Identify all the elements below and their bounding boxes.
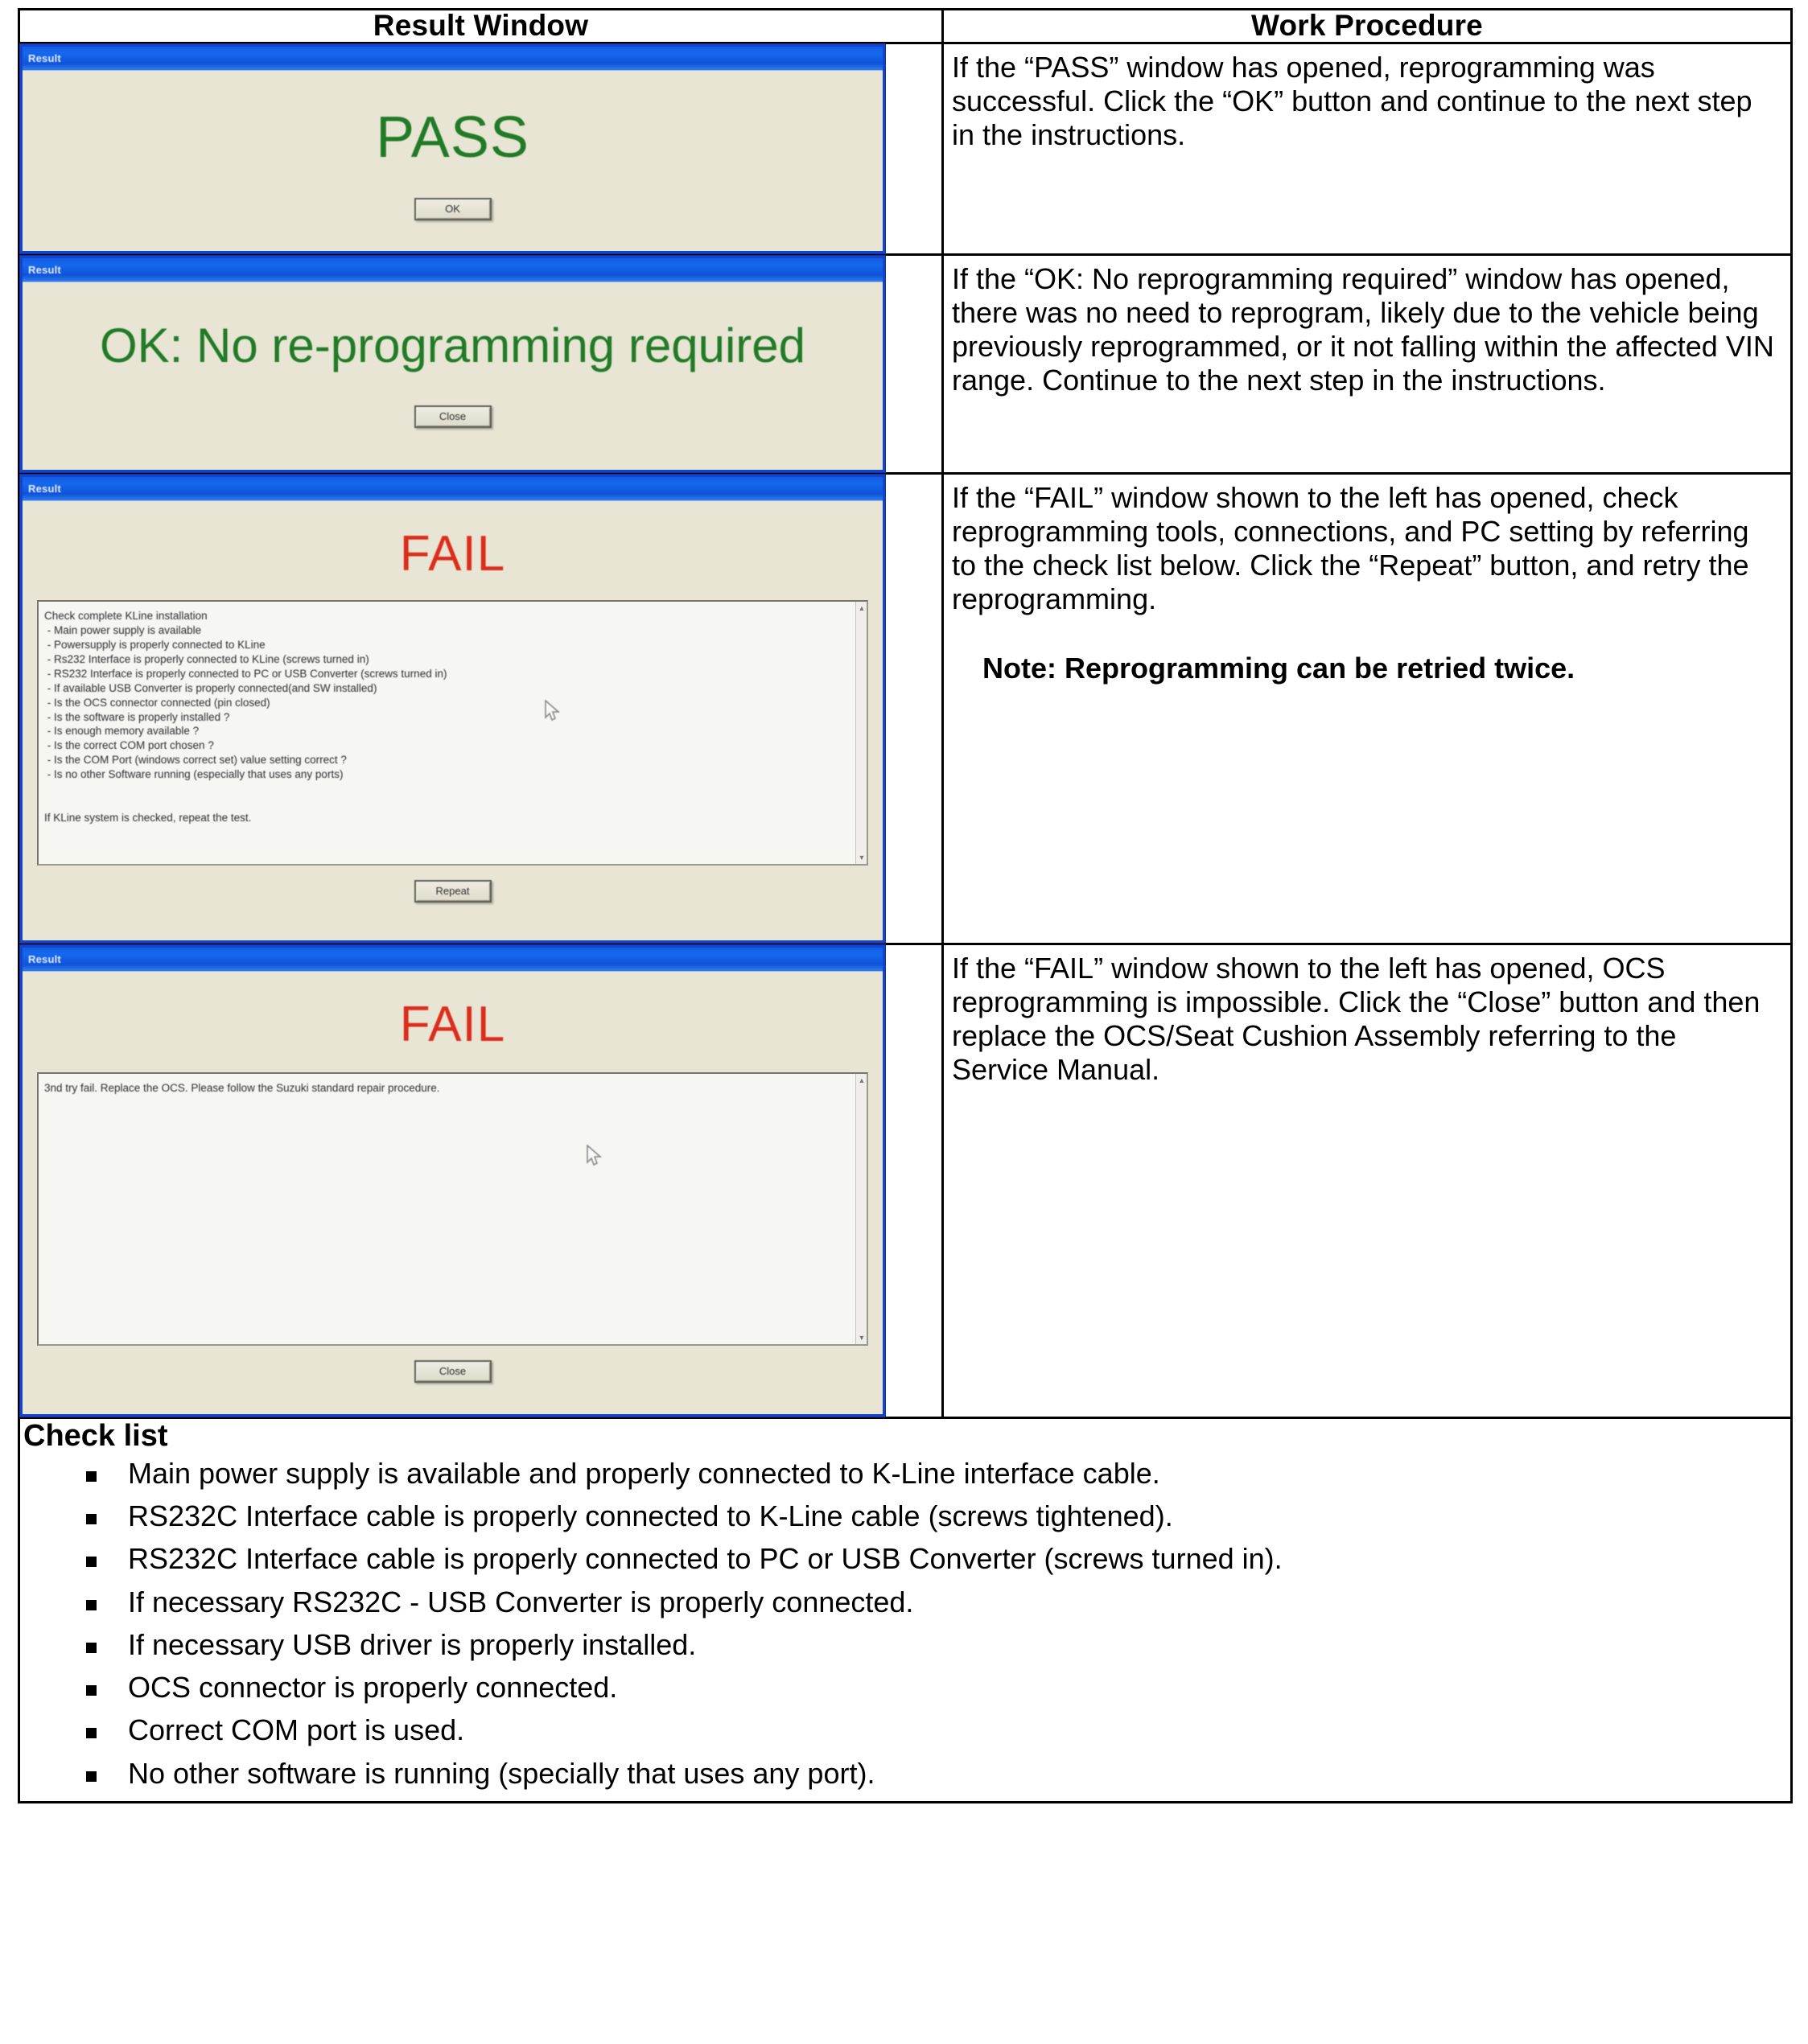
scroll-down-icon[interactable]: ▼ [858, 853, 866, 862]
square-bullet-icon [86, 1685, 97, 1696]
dialog-window-pass[interactable]: Result PASS OK [20, 44, 885, 253]
window-title: Result [28, 953, 61, 965]
list-item-label: If necessary USB driver is properly inst… [128, 1628, 696, 1661]
window-title: Result [28, 264, 61, 276]
result-message-fail: FAIL [23, 972, 883, 1053]
list-item: RS232C Interface cable is properly conne… [86, 1501, 1790, 1531]
dialog-window-fail-repeat[interactable]: Result FAIL Check complete KLine install… [20, 475, 885, 943]
square-bullet-icon [86, 1771, 97, 1782]
column-header-work-procedure: Work Procedure [943, 10, 1792, 43]
checklist-row: Check list Main power supply is availabl… [19, 1417, 1792, 1802]
procedure-note: Note: Reprogramming can be retried twice… [952, 652, 1781, 685]
window-client-area: OK: No re-programming required Close [23, 282, 883, 470]
square-bullet-icon [86, 1471, 97, 1482]
procedure-text-block: If the “FAIL” window shown to the left h… [944, 475, 1790, 695]
result-window-cell-ok: Result OK: No re-programming required Cl… [19, 254, 943, 473]
work-procedure-cell-pass: If the “PASS” window has opened, reprogr… [943, 43, 1792, 254]
work-procedure-cell-ok: If the “OK: No reprogramming required” w… [943, 254, 1792, 473]
close-button[interactable]: Close [414, 405, 492, 428]
result-window-cell-fail-repeat: Result FAIL Check complete KLine install… [19, 473, 943, 944]
window-titlebar[interactable]: Result [23, 948, 883, 972]
square-bullet-icon [86, 1600, 97, 1610]
button-row: Repeat [23, 880, 883, 903]
dialog-window-fail-close[interactable]: Result FAIL 3nd try fail. Replace the OC… [20, 945, 885, 1417]
result-window-cell-pass: Result PASS OK [19, 43, 943, 254]
ok-button[interactable]: OK [414, 198, 492, 220]
table-row: Result OK: No re-programming required Cl… [19, 254, 1792, 473]
list-item-label: OCS connector is properly connected. [128, 1671, 617, 1704]
result-window-procedure-table: Result Window Work Procedure Result PASS… [18, 8, 1793, 1803]
window-client-area: FAIL Check complete KLine installation -… [23, 501, 883, 940]
checklist-title: Check list [23, 1419, 1790, 1454]
window-title: Result [28, 52, 61, 64]
list-item: If necessary RS232C - USB Converter is p… [86, 1587, 1790, 1617]
procedure-text: If the “FAIL” window shown to the left h… [952, 952, 1781, 1087]
button-row: OK [23, 198, 883, 220]
table-header-row: Result Window Work Procedure [19, 10, 1792, 43]
scroll-up-icon[interactable]: ▲ [858, 1076, 866, 1084]
diagnostic-listbox-text: 3nd try fail. Replace the OCS. Please fo… [39, 1074, 867, 1096]
checklist-cell: Check list Main power supply is availabl… [19, 1417, 1792, 1802]
procedure-text-block: If the “FAIL” window shown to the left h… [944, 945, 1790, 1096]
result-window-cell-fail-close: Result FAIL 3nd try fail. Replace the OC… [19, 944, 943, 1417]
list-item-label: Main power supply is available and prope… [128, 1457, 1160, 1490]
table-row: Result FAIL 3nd try fail. Replace the OC… [19, 944, 1792, 1417]
listbox-scrollbar[interactable]: ▲ ▼ [855, 1074, 867, 1344]
table-row: Result PASS OK If the “PASS” window has … [19, 43, 1792, 254]
procedure-text: If the “OK: No reprogramming required” w… [952, 262, 1781, 397]
window-titlebar[interactable]: Result [23, 258, 883, 282]
procedure-text-block: If the “OK: No reprogramming required” w… [944, 256, 1790, 407]
square-bullet-icon [86, 1643, 97, 1653]
window-client-area: FAIL 3nd try fail. Replace the OCS. Plea… [23, 972, 883, 1414]
document-page: Result Window Work Procedure Result PASS… [0, 0, 1808, 2044]
column-header-result-window: Result Window [19, 10, 943, 43]
repeat-button[interactable]: Repeat [414, 880, 492, 903]
list-item: RS232C Interface cable is properly conne… [86, 1544, 1790, 1573]
result-message-pass: PASS [23, 71, 883, 171]
list-item-label: If necessary RS232C - USB Converter is p… [128, 1585, 913, 1618]
window-titlebar[interactable]: Result [23, 477, 883, 501]
list-item-label: RS232C Interface cable is properly conne… [128, 1542, 1283, 1575]
result-message-ok: OK: No re-programming required [23, 282, 883, 373]
procedure-text-block: If the “PASS” window has opened, reprogr… [944, 44, 1790, 162]
scroll-up-icon[interactable]: ▲ [858, 604, 866, 612]
dialog-window-ok[interactable]: Result OK: No re-programming required Cl… [20, 256, 885, 472]
square-bullet-icon [86, 1557, 97, 1567]
work-procedure-cell-fail-close: If the “FAIL” window shown to the left h… [943, 944, 1792, 1417]
procedure-text: If the “PASS” window has opened, reprogr… [952, 51, 1781, 152]
list-item: OCS connector is properly connected. [86, 1672, 1790, 1702]
procedure-text: If the “FAIL” window shown to the left h… [952, 481, 1781, 616]
diagnostic-listbox[interactable]: Check complete KLine installation - Main… [37, 600, 868, 866]
list-item: No other software is running (specially … [86, 1758, 1790, 1788]
list-item: If necessary USB driver is properly inst… [86, 1630, 1790, 1659]
close-button[interactable]: Close [414, 1360, 492, 1383]
square-bullet-icon [86, 1514, 97, 1524]
window-client-area: PASS OK [23, 71, 883, 251]
window-titlebar[interactable]: Result [23, 47, 883, 71]
list-item: Correct COM port is used. [86, 1715, 1790, 1745]
table-row: Result FAIL Check complete KLine install… [19, 473, 1792, 944]
diagnostic-listbox[interactable]: 3nd try fail. Replace the OCS. Please fo… [37, 1072, 868, 1346]
diagnostic-listbox-text: Check complete KLine installation - Main… [39, 602, 867, 825]
button-row: Close [23, 1360, 883, 1383]
result-message-fail: FAIL [23, 501, 883, 582]
window-title: Result [28, 483, 61, 495]
list-item-label: No other software is running (specially … [128, 1757, 875, 1790]
listbox-scrollbar[interactable]: ▲ ▼ [855, 602, 867, 864]
list-item: Main power supply is available and prope… [86, 1458, 1790, 1488]
work-procedure-cell-fail-repeat: If the “FAIL” window shown to the left h… [943, 473, 1792, 944]
scroll-down-icon[interactable]: ▼ [858, 1334, 866, 1342]
list-item-label: Correct COM port is used. [128, 1713, 464, 1746]
square-bullet-icon [86, 1728, 97, 1738]
checklist: Main power supply is available and prope… [20, 1458, 1790, 1788]
list-item-label: RS232C Interface cable is properly conne… [128, 1499, 1173, 1532]
button-row: Close [23, 405, 883, 428]
